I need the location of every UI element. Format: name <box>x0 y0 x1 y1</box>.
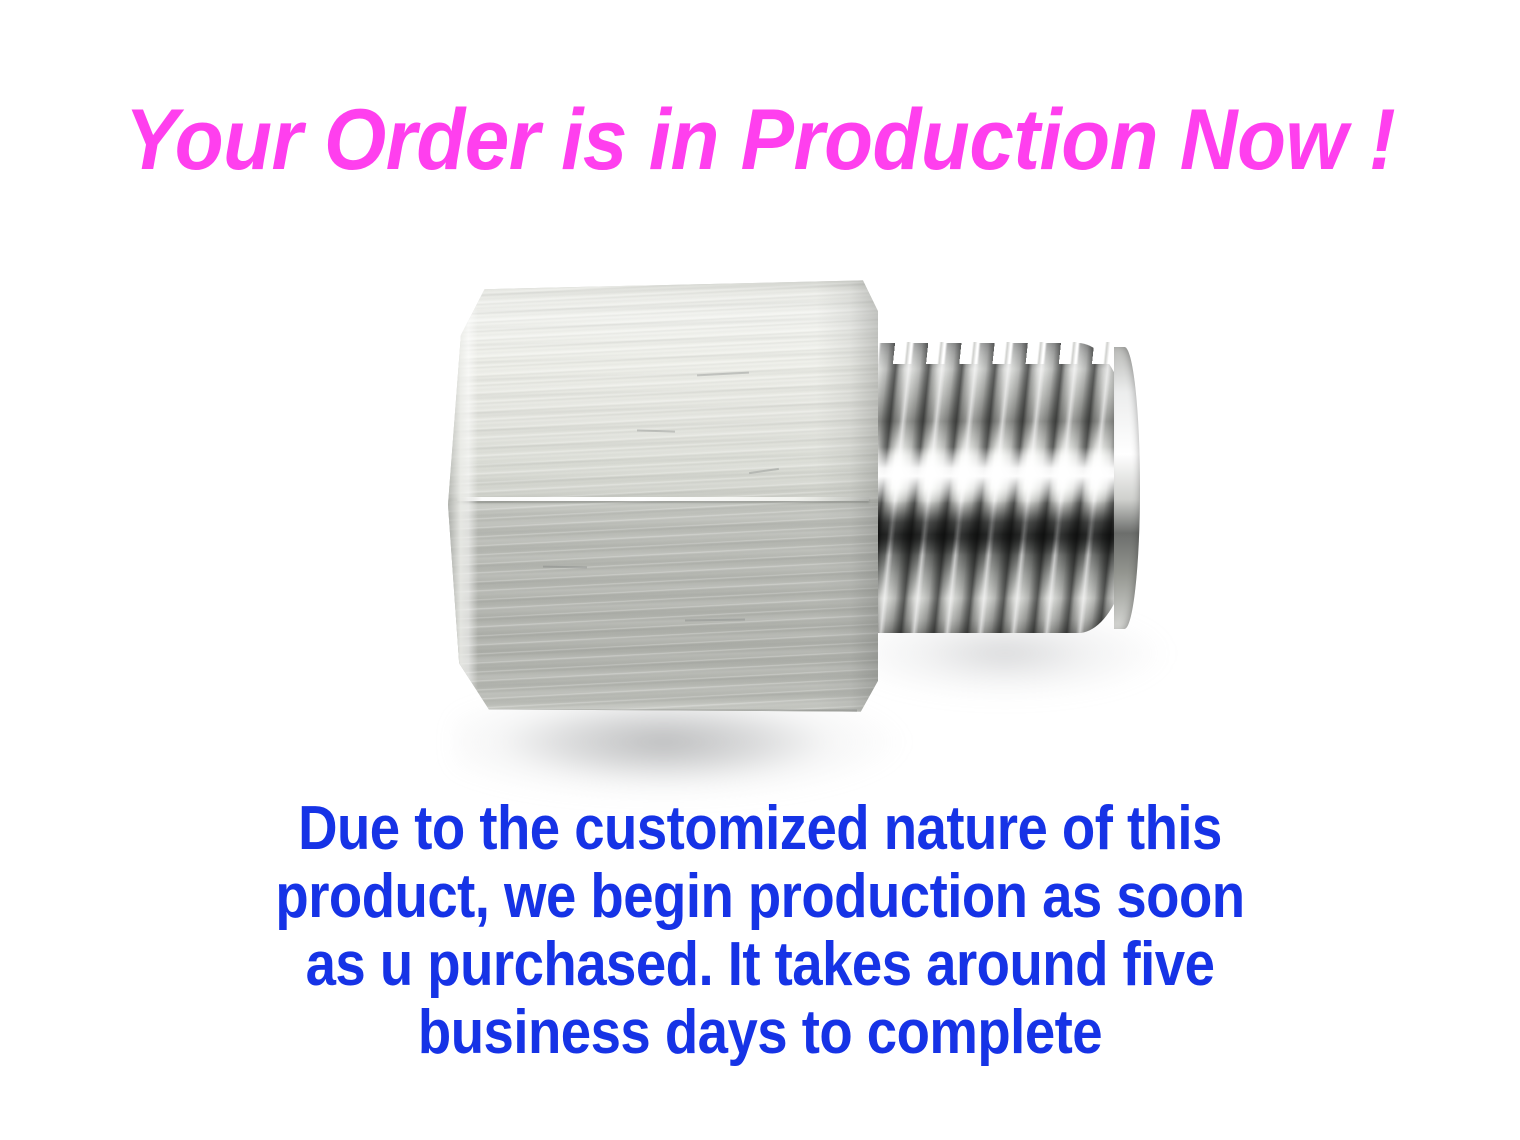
hex-upper-facet <box>448 276 878 503</box>
body-copy: Due to the customized nature of this pro… <box>0 795 1520 1067</box>
promo-image-canvas: Your Order is in Production Now ! <box>0 0 1520 1140</box>
hex-silhouette <box>448 276 878 716</box>
product-photo <box>0 210 1520 790</box>
body-copy-line-2: product, we begin production as soon <box>91 863 1429 931</box>
body-copy-line-1: Due to the customized nature of this <box>91 795 1429 863</box>
body-copy-line-4: business days to complete <box>91 999 1429 1067</box>
hex-lower-facet <box>448 503 878 716</box>
thread-crest-silhouette <box>862 342 1134 364</box>
headline-text: Your Order is in Production Now ! <box>53 92 1467 188</box>
hex-facet-edge <box>457 497 870 501</box>
hex-body <box>448 276 878 716</box>
body-copy-line-3: as u purchased. It takes around five <box>91 931 1429 999</box>
thread-ridge-highlights <box>858 343 1138 633</box>
threaded-nipple <box>858 343 1138 633</box>
thread-barrel <box>858 343 1138 633</box>
